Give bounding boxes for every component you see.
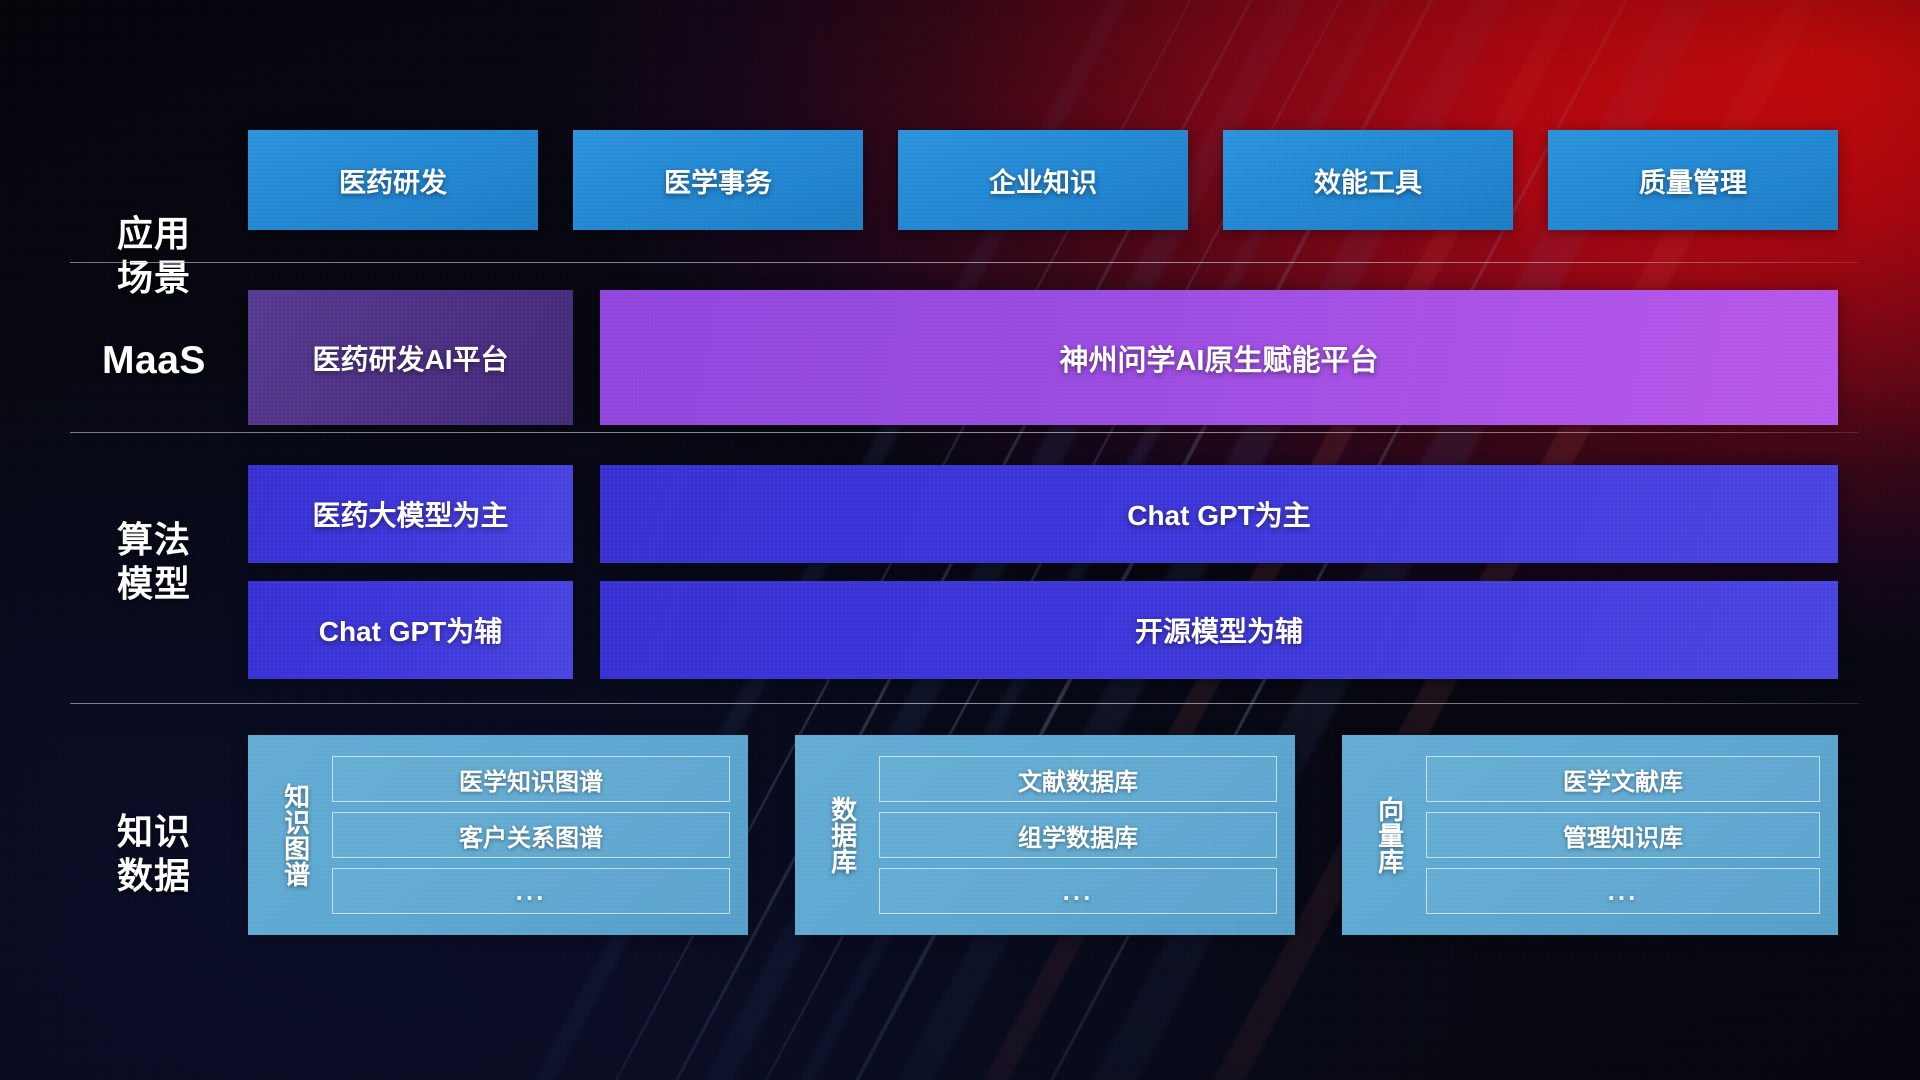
maas-box-shenzhou-wenxue-platform[interactable]: 神州问学AI原生赋能平台: [600, 290, 1838, 425]
tier-label-knowledge-line1: 知识: [88, 810, 220, 854]
knowledge-panel-knowledge-graph[interactable]: 知识图谱 医学知识图谱 客户关系图谱 ...: [248, 735, 748, 935]
knowledge-item-medical-literature-store[interactable]: 医学文献库: [1426, 756, 1820, 802]
app-box-2[interactable]: 企业知识: [898, 130, 1188, 230]
app-box-3[interactable]: 效能工具: [1223, 130, 1513, 230]
knowledge-item-management-knowledge-store[interactable]: 管理知识库: [1426, 812, 1820, 858]
knowledge-item-customer-relation-graph[interactable]: 客户关系图谱: [332, 812, 730, 858]
knowledge-item-more-0[interactable]: ...: [332, 868, 730, 914]
knowledge-item-medical-knowledge-graph[interactable]: 医学知识图谱: [332, 756, 730, 802]
knowledge-panel-0-vertical-label: 知识图谱: [264, 750, 326, 920]
knowledge-item-more-2[interactable]: ...: [1426, 868, 1820, 914]
tier-label-algorithm-line2: 模型: [88, 562, 220, 606]
algo-box-row0-left[interactable]: 医药大模型为主: [248, 465, 573, 563]
tier-label-knowledge-line2: 数据: [88, 854, 220, 898]
tier-label-algorithm-line1: 算法: [88, 518, 220, 562]
algo-box-row1-right[interactable]: 开源模型为辅: [600, 581, 1838, 679]
knowledge-panel-vector-store[interactable]: 向量库 医学文献库 管理知识库 ...: [1342, 735, 1838, 935]
divider-3: [70, 703, 1858, 704]
architecture-diagram: 应用 场景 医药研发 医学事务 企业知识 效能工具 质量管理 MaaS 医药研发…: [0, 0, 1920, 1080]
knowledge-item-more-1[interactable]: ...: [879, 868, 1277, 914]
divider-2: [70, 432, 1858, 433]
knowledge-item-literature-database[interactable]: 文献数据库: [879, 756, 1277, 802]
knowledge-item-omics-database[interactable]: 组学数据库: [879, 812, 1277, 858]
app-box-1[interactable]: 医学事务: [573, 130, 863, 230]
tier-label-algorithm: 算法 模型: [88, 518, 220, 606]
knowledge-panel-1-items: 文献数据库 组学数据库 ...: [873, 756, 1295, 914]
tier-label-maas: MaaS: [88, 337, 220, 385]
tier-label-knowledge: 知识 数据: [88, 810, 220, 898]
tier-label-application: 应用 场景: [88, 212, 220, 300]
knowledge-panel-2-items: 医学文献库 管理知识库 ...: [1420, 756, 1838, 914]
knowledge-panel-0-items: 医学知识图谱 客户关系图谱 ...: [326, 756, 748, 914]
maas-box-medical-ai-platform[interactable]: 医药研发AI平台: [248, 290, 573, 425]
knowledge-panel-1-vertical-label: 数据库: [811, 750, 873, 920]
tier-label-application-line1: 应用: [88, 212, 220, 256]
knowledge-panel-2-vertical-label: 向量库: [1358, 750, 1420, 920]
knowledge-panel-database[interactable]: 数据库 文献数据库 组学数据库 ...: [795, 735, 1295, 935]
algo-box-row1-left[interactable]: Chat GPT为辅: [248, 581, 573, 679]
divider-1: [70, 262, 1858, 263]
algo-box-row0-right[interactable]: Chat GPT为主: [600, 465, 1838, 563]
app-box-0[interactable]: 医药研发: [248, 130, 538, 230]
app-box-4[interactable]: 质量管理: [1548, 130, 1838, 230]
